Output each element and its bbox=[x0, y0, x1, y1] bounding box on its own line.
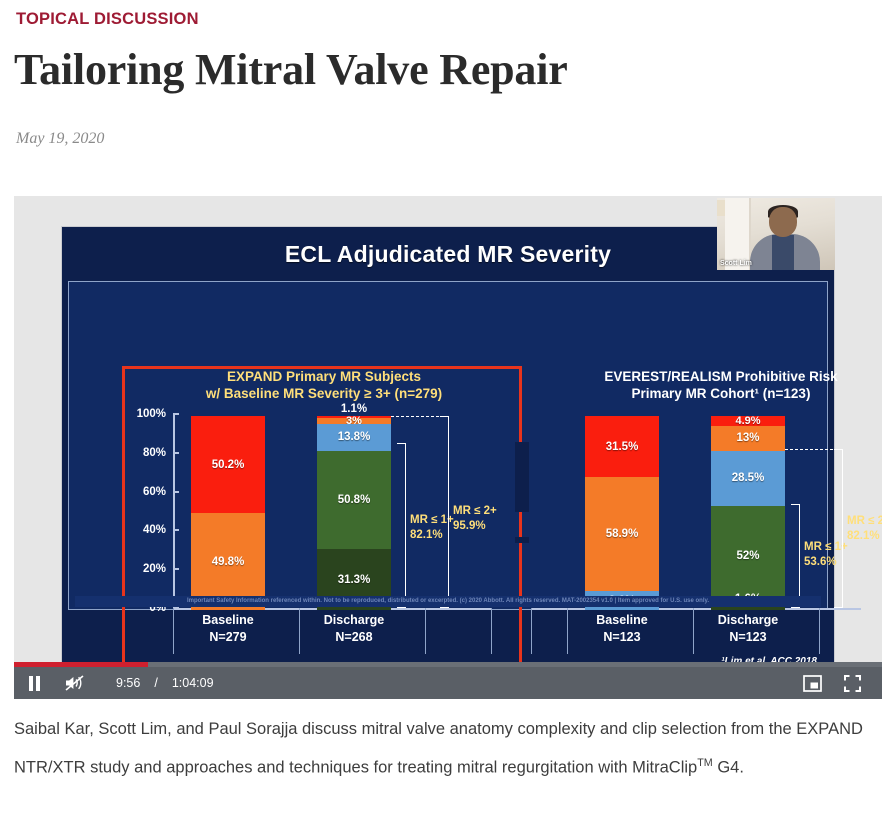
x-category-sublabel: N=123 bbox=[689, 629, 807, 646]
bar-value-label: 58.9% bbox=[606, 528, 639, 540]
bar-everest-discharge: 4.9% 13% 28.5% 52% bbox=[711, 416, 785, 610]
bracket-mr-le-2-expand bbox=[440, 416, 449, 608]
speaker-head bbox=[769, 207, 797, 237]
bar-segment-mr4: 50.2% bbox=[191, 416, 265, 513]
bar-segment-mr3: 58.9% bbox=[585, 477, 659, 591]
plot-area-expand: 100% 80% 60% 40% 20% 0% 50.2% 49.8% bbox=[129, 408, 519, 674]
speaker-webcam: Scott Lim bbox=[717, 198, 835, 270]
fullscreen-icon bbox=[844, 675, 861, 692]
x-category-sublabel: N=279 bbox=[169, 629, 287, 646]
slide-content: EXPAND Primary MR Subjects w/ Baseline M… bbox=[68, 281, 828, 610]
volume-muted-icon bbox=[65, 675, 84, 691]
x-category-everest-baseline: Baseline N=123 bbox=[563, 612, 681, 646]
presentation-slide: ECL Adjudicated MR Severity EXPAND Prima… bbox=[62, 227, 834, 664]
bar-segment-mr3: 13% bbox=[711, 426, 785, 451]
pause-icon bbox=[28, 676, 41, 691]
chart-title-everest: EVEREST/REALISM Prohibitive Risk Primary… bbox=[531, 368, 882, 402]
y-tick-label: 40% bbox=[143, 524, 173, 536]
pause-button[interactable] bbox=[14, 667, 54, 699]
x-category-label: Baseline bbox=[169, 612, 287, 629]
percent-sign: % bbox=[234, 459, 244, 471]
current-time: 9:56 bbox=[116, 676, 140, 690]
bar-value-label: 50.8% bbox=[338, 494, 371, 506]
x-category-label: Discharge bbox=[689, 612, 807, 629]
bar-value-label: 50.2 bbox=[212, 459, 234, 471]
time-separator: / bbox=[154, 676, 157, 690]
bar-value-label: 28.5% bbox=[732, 472, 765, 484]
speaker-name-label: Scott Lim bbox=[720, 260, 752, 267]
x-category-sublabel: N=268 bbox=[295, 629, 413, 646]
bar-value-label: 49.8 bbox=[212, 556, 234, 568]
bar-segment-mr2: 13.8% bbox=[317, 424, 391, 451]
bracket-label-mr-le-2-expand: MR ≤ 2+ 95.9% bbox=[453, 504, 497, 534]
chart-panel-expand: EXPAND Primary MR Subjects w/ Baseline M… bbox=[129, 368, 519, 699]
bracket-mr-le-1-everest bbox=[791, 504, 800, 608]
video-description: Saibal Kar, Scott Lim, and Paul Sorajja … bbox=[14, 712, 869, 785]
bar-value-label: 13.8% bbox=[338, 431, 371, 443]
y-tick-label: 20% bbox=[143, 563, 173, 575]
page-title: Tailoring Mitral Valve Repair bbox=[14, 44, 568, 95]
bar-everest-baseline: 31.5% 58.9% 9.6% bbox=[585, 416, 659, 610]
y-axis bbox=[173, 414, 175, 610]
bar-expand-baseline: 50.2% 49.8% bbox=[191, 416, 265, 610]
trademark-symbol: TM bbox=[697, 757, 712, 769]
bar-value-label: 31.3% bbox=[338, 574, 371, 586]
y-tick-label: 80% bbox=[143, 447, 173, 459]
safety-information-strip: Important Safety Information referenced … bbox=[75, 596, 821, 607]
plot-area-everest: 31.5% 58.9% 9.6% 4.9% bbox=[531, 408, 882, 674]
bar-value-label: 52% bbox=[736, 550, 759, 562]
bar-segment-mr4: 4.9% bbox=[711, 416, 785, 426]
x-category-expand-baseline: Baseline N=279 bbox=[169, 612, 287, 646]
bar-segment-mr2: 28.5% bbox=[711, 451, 785, 506]
bar-value-label: 4.9% bbox=[735, 416, 760, 426]
x-category-label: Discharge bbox=[295, 612, 413, 629]
y-tick-label: 100% bbox=[137, 408, 173, 420]
bar-value-label: 13% bbox=[736, 432, 759, 444]
x-category-sublabel: N=123 bbox=[563, 629, 681, 646]
bar-segment-mr1: 52% bbox=[711, 506, 785, 607]
bar-segment-mr1: 50.8% bbox=[317, 451, 391, 550]
x-category-expand-discharge: Discharge N=268 bbox=[295, 612, 413, 646]
total-duration: 1:04:09 bbox=[172, 676, 214, 690]
mute-button[interactable] bbox=[54, 667, 94, 699]
video-controls[interactable]: 9:56 / 1:04:09 bbox=[14, 667, 882, 699]
bar-expand-discharge: 1.1% 3% 13.8% 50.8% bbox=[317, 416, 391, 610]
picture-in-picture-button[interactable] bbox=[792, 667, 832, 699]
chart-panel-everest: EVEREST/REALISM Prohibitive Risk Primary… bbox=[531, 368, 882, 699]
article-page: TOPICAL DISCUSSION Tailoring Mitral Valv… bbox=[0, 0, 896, 823]
picture-in-picture-icon bbox=[803, 675, 822, 692]
bar-segment-mr4: 31.5% bbox=[585, 416, 659, 477]
chart-title-expand: EXPAND Primary MR Subjects w/ Baseline M… bbox=[129, 368, 519, 402]
article-eyebrow: TOPICAL DISCUSSION bbox=[16, 10, 199, 29]
bracket-mr-le-1-expand bbox=[397, 443, 406, 608]
bar-value-label: 31.5% bbox=[606, 441, 639, 453]
x-category-label: Baseline bbox=[563, 612, 681, 629]
article-date: May 19, 2020 bbox=[16, 130, 104, 148]
bracket-mr-le-2-everest bbox=[834, 449, 843, 608]
fullscreen-button[interactable] bbox=[832, 667, 872, 699]
bracket-label-mr-le-2-everest: MR ≤ 2+ 82.1% bbox=[847, 514, 882, 544]
bar-segment-mr0: 1.6% bbox=[711, 607, 785, 610]
description-tail: G4. bbox=[713, 759, 744, 777]
y-tick-label: 60% bbox=[143, 486, 173, 498]
video-player[interactable]: ECL Adjudicated MR Severity EXPAND Prima… bbox=[14, 196, 882, 699]
speaker-shirt bbox=[772, 235, 794, 270]
percent-sign: % bbox=[234, 556, 244, 568]
time-display: 9:56 / 1:04:09 bbox=[116, 676, 214, 690]
x-category-everest-discharge: Discharge N=123 bbox=[689, 612, 807, 646]
